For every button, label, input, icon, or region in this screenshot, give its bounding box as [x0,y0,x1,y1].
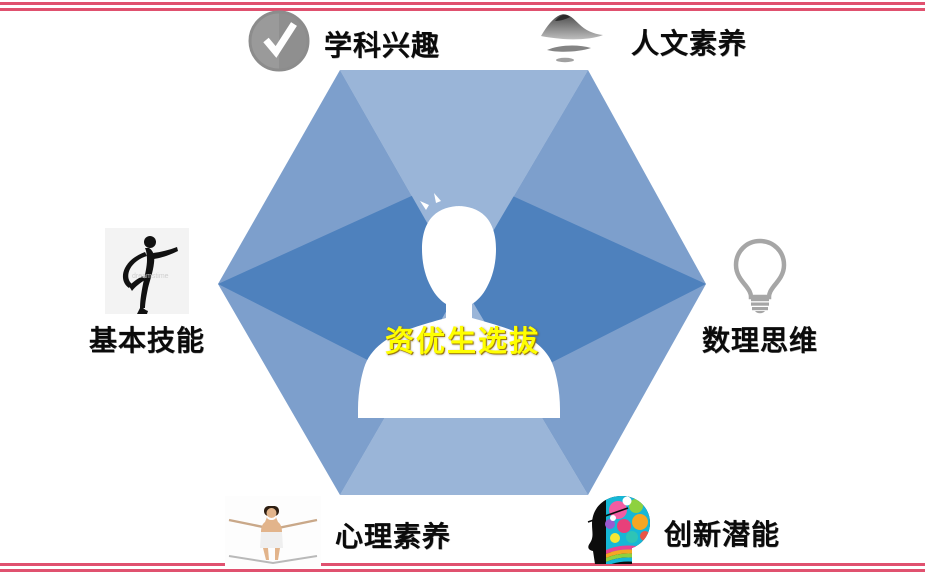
node-innovation-potential-label: 创新潜能 [664,513,780,553]
dancer-silhouette-icon: dreamstime [72,228,222,319]
node-humanistic-literacy[interactable]: 人文素养 [533,8,747,75]
node-subject-interest[interactable]: 学科兴趣 [246,8,440,79]
node-humanistic-literacy-label: 人文素养 [631,22,747,62]
check-circle-icon [246,8,312,79]
lightbulb-icon [690,236,830,319]
node-basic-skills[interactable]: dreamstime 基本技能 [72,228,222,359]
svg-text:dreamstime: dreamstime [132,273,169,280]
node-innovation-potential[interactable]: 创新潜能 [580,492,780,573]
node-math-thinking[interactable]: 数理思维 [690,236,830,359]
top-accent-rule-upper [0,2,925,5]
tightrope-balance-icon [225,496,321,573]
ink-mountain-icon [533,8,613,75]
slide-canvas: 资优生选拔 学科兴趣 [0,0,925,576]
creative-brain-icon [580,492,656,573]
bottom-accent-rule-upper [0,563,925,566]
hexagon-diagram [218,68,706,496]
node-math-thinking-label: 数理思维 [702,326,818,357]
node-subject-interest-label: 学科兴趣 [324,24,440,64]
node-psychological-literacy-label: 心理素养 [335,515,451,555]
node-psychological-literacy[interactable]: 心理素养 [225,496,451,573]
node-basic-skills-label: 基本技能 [89,326,205,357]
bottom-accent-rule-lower [0,569,925,572]
top-accent-rule-lower [0,8,925,11]
